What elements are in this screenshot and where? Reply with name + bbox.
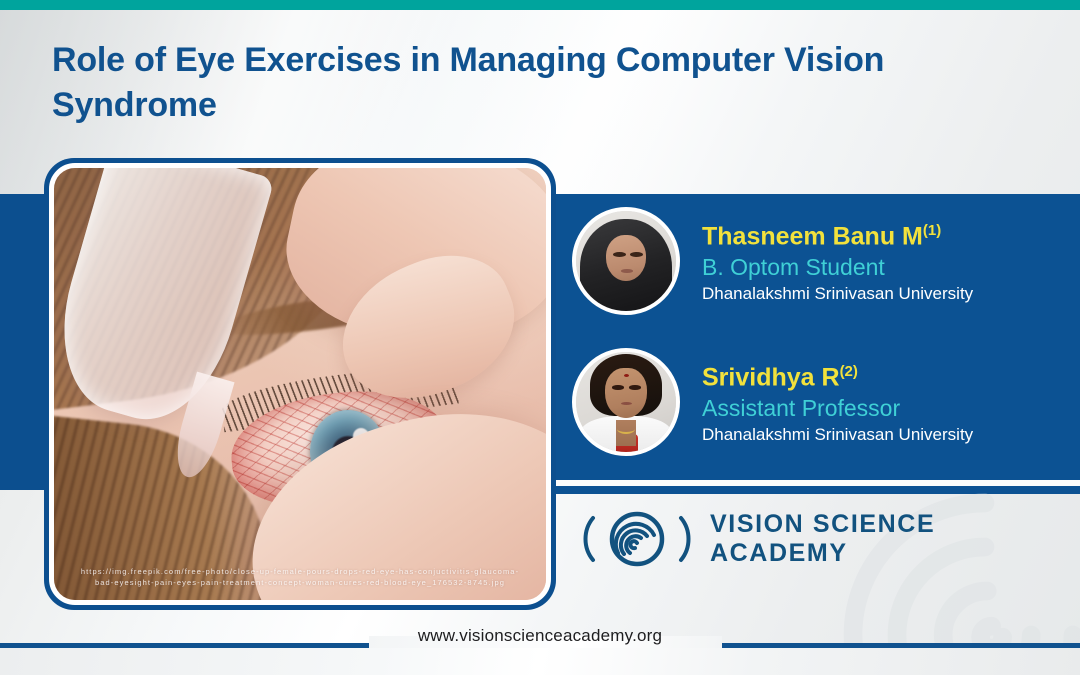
brand-logo: VISION SCIENCE ACADEMY bbox=[578, 508, 935, 570]
author-name-text: Srividhya R bbox=[702, 364, 840, 392]
author-affiliation-marker: (1) bbox=[923, 222, 941, 239]
author-affiliation: Dhanalakshmi Srinivasan University bbox=[702, 282, 973, 306]
author-card-2: Srividhya R(2) Assistant Professor Dhana… bbox=[572, 348, 973, 456]
author-name-text: Thasneem Banu M bbox=[702, 223, 923, 251]
author-role: B. Optom Student bbox=[702, 252, 973, 282]
brand-line-1: VISION SCIENCE bbox=[710, 510, 935, 539]
photo-source-caption: https://img.freepik.com/free-photo/close… bbox=[54, 567, 546, 588]
hero-photo-frame: https://img.freepik.com/free-photo/close… bbox=[44, 158, 556, 610]
hero-photo: https://img.freepik.com/free-photo/close… bbox=[49, 163, 551, 605]
page-title: Role of Eye Exercises in Managing Comput… bbox=[52, 38, 972, 128]
author-name: Srividhya R(2) bbox=[702, 357, 973, 392]
top-accent-bar bbox=[0, 0, 1080, 10]
author-affiliation: Dhanalakshmi Srinivasan University bbox=[702, 423, 973, 447]
vision-science-academy-fingerprint-eye-icon bbox=[578, 508, 696, 570]
author-name: Thasneem Banu M(1) bbox=[702, 216, 973, 251]
author-role: Assistant Professor bbox=[702, 393, 973, 423]
avatar bbox=[572, 348, 680, 456]
eye-drops-illustration bbox=[54, 168, 546, 600]
panel-divider-blue bbox=[550, 486, 1080, 494]
footer-band bbox=[0, 648, 1080, 675]
brand-wordmark: VISION SCIENCE ACADEMY bbox=[710, 510, 935, 568]
avatar bbox=[572, 207, 680, 315]
author-affiliation-marker: (2) bbox=[840, 363, 858, 380]
presentation-slide: Role of Eye Exercises in Managing Comput… bbox=[0, 0, 1080, 675]
footer-website-url[interactable]: www.visionscienceacademy.org bbox=[0, 626, 1080, 646]
brand-line-2: ACADEMY bbox=[710, 539, 935, 568]
author-card-1: Thasneem Banu M(1) B. Optom Student Dhan… bbox=[572, 207, 973, 315]
